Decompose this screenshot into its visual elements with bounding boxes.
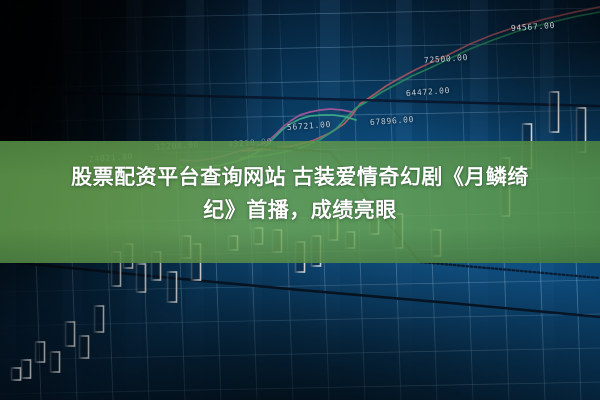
title-line-2: 纪》首播，成绩亮眼 (14, 194, 586, 227)
title-line-1: 股票配资平台查询网站 古装爱情奇幻剧《月鳞绮 (14, 161, 586, 194)
page-title: 股票配资平台查询网站 古装爱情奇幻剧《月鳞绮 纪》首播，成绩亮眼 (0, 161, 600, 227)
price-label: 94567.00 (511, 21, 556, 33)
price-label: 64472.00 (406, 86, 451, 98)
price-label: 67896.00 (370, 115, 415, 127)
price-label: 72500.00 (424, 53, 469, 65)
cover-image: 94567.0072500.0064472.0067896.0056721.00… (0, 0, 600, 400)
price-label: 56721.00 (287, 120, 332, 132)
